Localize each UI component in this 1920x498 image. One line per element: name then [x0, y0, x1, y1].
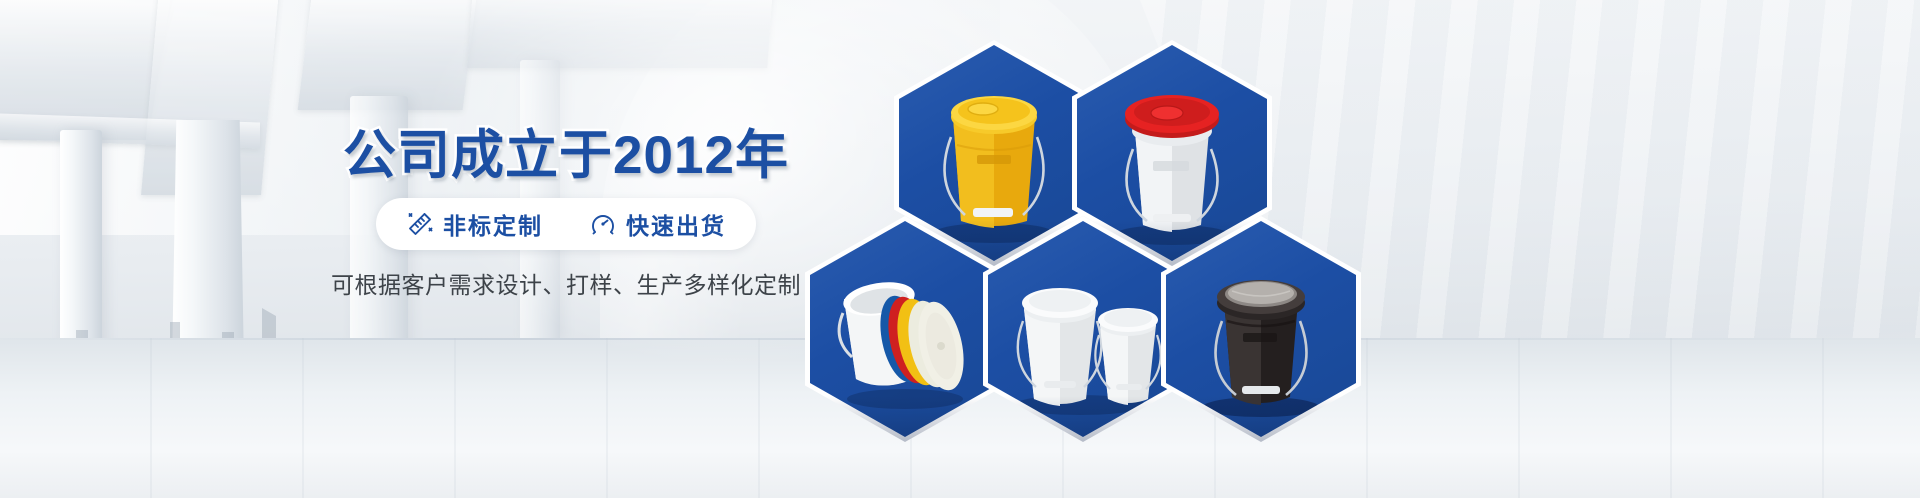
- banner-headline: 公司成立于2012年: [286, 128, 846, 184]
- hex-shadow: [805, 396, 1005, 442]
- product-hexagon-cluster: [800, 0, 1600, 498]
- hex-shadow: [1161, 396, 1361, 442]
- ruler-pencil-icon: [406, 210, 434, 238]
- speedometer-icon: [589, 210, 617, 238]
- banner-subtitle: 可根据客户需求设计、打样、生产多样化定制: [286, 266, 846, 300]
- ceiling-beam: [467, 0, 772, 68]
- badge-custom-made[interactable]: 非标定制: [406, 207, 543, 241]
- hero-banner: 公司成立于2012年 非标定制: [0, 0, 1920, 498]
- ceiling-beam: [298, 0, 478, 110]
- badge-label: 快速出货: [626, 207, 726, 241]
- hex-shadow: [983, 396, 1183, 442]
- feature-badge-bar: 非标定制 快速出货: [376, 198, 756, 250]
- badge-label: 非标定制: [443, 207, 543, 241]
- badge-fast-shipping[interactable]: 快速出货: [589, 207, 726, 241]
- banner-copy: 公司成立于2012年 非标定制: [286, 128, 846, 300]
